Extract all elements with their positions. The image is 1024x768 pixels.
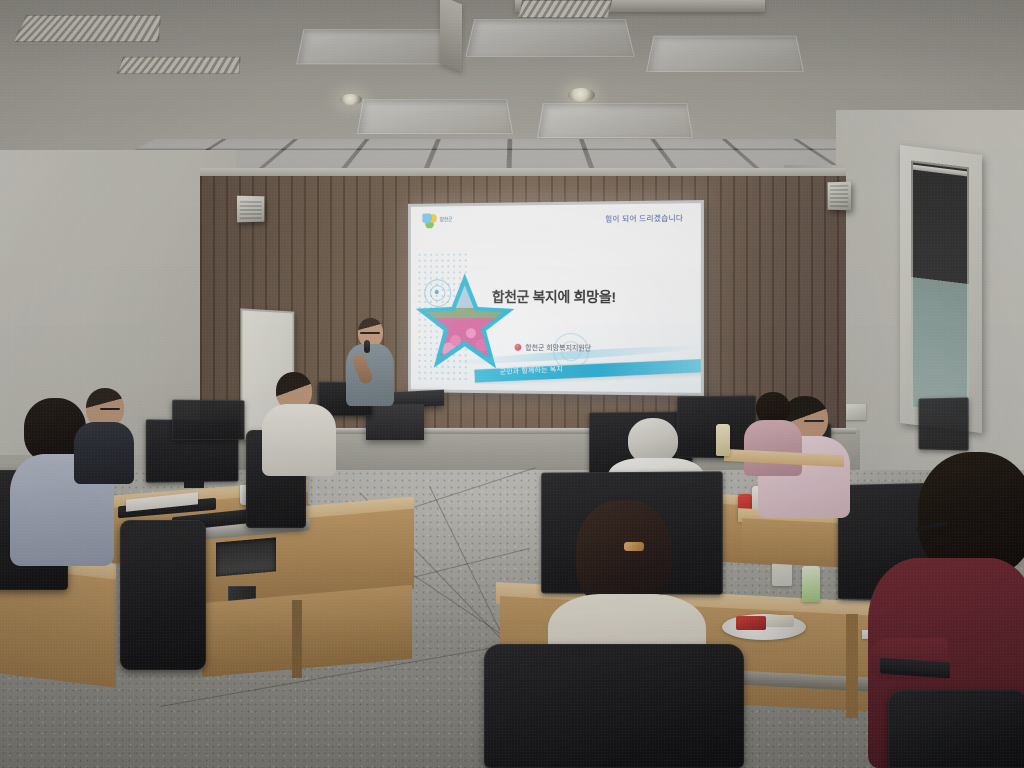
office-chair (484, 644, 744, 768)
wall-speaker-right-icon (828, 182, 851, 211)
office-chair (888, 690, 1024, 768)
ceiling-air-vent (117, 57, 241, 74)
projection-screen: 군민과 함께하는 복지 합천군 힘이 되어 드리겠습니다 합천군 복지에 희망을… (408, 200, 704, 396)
monitor (172, 400, 244, 441)
attendee-glasses-icon (100, 408, 120, 410)
ceiling-beam (440, 0, 462, 72)
hair-clip (624, 542, 644, 551)
ceiling-tile (537, 103, 693, 138)
attendee-left-glasses (74, 388, 136, 484)
snack-item (766, 615, 794, 627)
attendee-glasses-icon (804, 420, 824, 422)
snack-item (736, 616, 766, 630)
slide-logo-text: 합천군 (440, 218, 453, 223)
presentation-slide: 군민과 함께하는 복지 합천군 힘이 되어 드리겠습니다 합천군 복지에 희망을… (411, 203, 701, 393)
microphone-icon (364, 340, 370, 353)
ceiling-tile (296, 29, 454, 64)
window-glass (911, 160, 969, 415)
slide-title: 합천군 복지에 희망을! (492, 287, 616, 307)
photo-scene: 군민과 함께하는 복지 합천군 힘이 되어 드리겠습니다 합천군 복지에 희망을… (0, 0, 1024, 768)
ceiling-tile (646, 36, 804, 72)
slide-ribbon: 군민과 함께하는 복지 (474, 354, 700, 386)
attendee-head (576, 500, 672, 608)
office-chair (120, 520, 206, 670)
ceiling-air-vent (518, 0, 612, 18)
presenter-glasses-icon (360, 332, 380, 334)
ceiling-downlight-icon (568, 88, 595, 102)
wall-speaker-left-icon (237, 196, 264, 223)
slide-tagline: 힘이 되어 드리겠습니다 (605, 213, 683, 225)
attendee-torso (744, 420, 802, 476)
desk-cubby (216, 537, 276, 576)
ceiling-tile (465, 19, 634, 56)
drink-bottle (802, 566, 820, 602)
presenter (344, 318, 396, 410)
ceiling-tile (357, 99, 513, 134)
attendee-torso (262, 404, 336, 476)
monitor-stand (184, 480, 204, 488)
slide-organization: 합천군 희망복지지원단 (525, 343, 591, 353)
attendee-left-striped (262, 372, 338, 476)
ceiling-downlight-icon (340, 94, 362, 105)
drink-bottle (716, 424, 730, 456)
hapcheon-logo-icon (422, 213, 436, 228)
attendee-torso (74, 422, 134, 484)
desk-leg (292, 600, 302, 678)
slide-logo: 합천군 (422, 213, 452, 228)
slide-halo-dot (435, 290, 439, 294)
monitor (919, 397, 969, 450)
desk-leg (846, 614, 858, 718)
ceiling-air-vent (13, 15, 161, 42)
slide-org-icon (514, 344, 521, 351)
